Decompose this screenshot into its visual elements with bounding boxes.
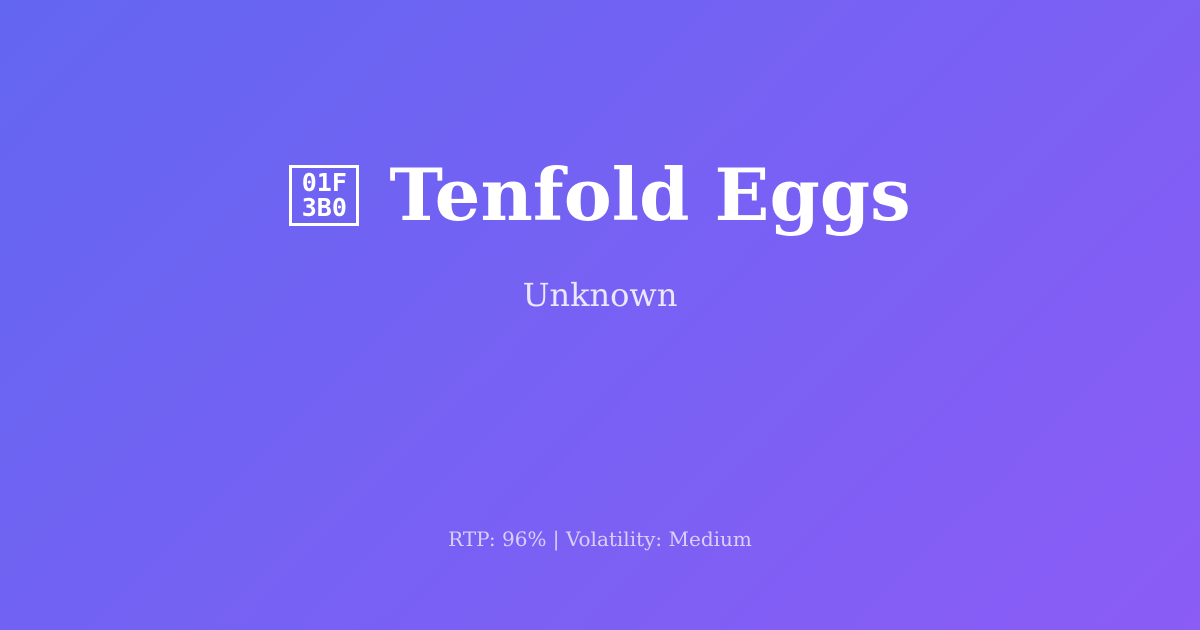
- tofu-hex-bottom: 3B0: [302, 195, 347, 220]
- subtitle: Unknown: [523, 279, 678, 311]
- title-row: 01F 3B0 Tenfold Eggs: [289, 159, 910, 231]
- page-title: Tenfold Eggs: [389, 159, 910, 231]
- footer-meta: RTP: 96% | Volatility: Medium: [0, 529, 1200, 549]
- hero-block: 01F 3B0 Tenfold Eggs Unknown: [0, 0, 1200, 470]
- og-card: 01F 3B0 Tenfold Eggs Unknown RTP: 96% | …: [0, 0, 1200, 630]
- tofu-hex-top: 01F: [302, 170, 347, 195]
- slot-machine-emoji-tofu-icon: 01F 3B0: [289, 165, 359, 226]
